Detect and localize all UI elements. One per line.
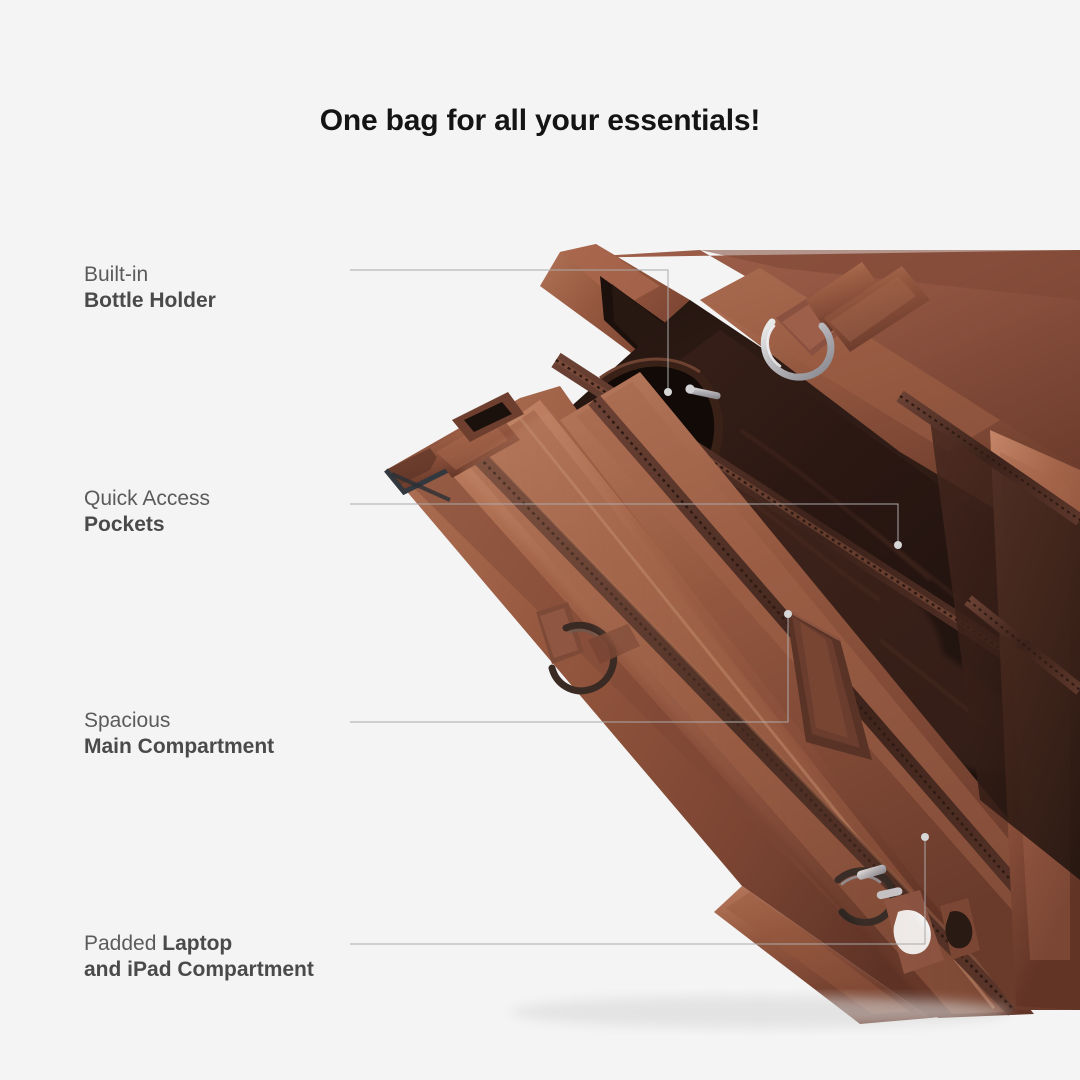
callout-line1-light: Padded bbox=[84, 932, 162, 955]
callout-line1-bold: Laptop bbox=[162, 932, 232, 955]
callout-bottle-holder: Built-in Bottle Holder bbox=[84, 262, 216, 313]
callout-line2: Pockets bbox=[84, 512, 210, 538]
callout-laptop-ipad-compartment: Padded Laptop and iPad Compartment bbox=[84, 931, 314, 982]
product-photo-briefcase bbox=[0, 0, 1080, 1080]
callout-line2: and iPad Compartment bbox=[84, 957, 314, 983]
callout-quick-access-pockets: Quick Access Pockets bbox=[84, 486, 210, 537]
callout-main-compartment: Spacious Main Compartment bbox=[84, 708, 274, 759]
callout-line1: Padded Laptop bbox=[84, 931, 314, 957]
callout-line1: Spacious bbox=[84, 708, 274, 734]
callout-line2: Bottle Holder bbox=[84, 288, 216, 314]
infographic-canvas: One bag for all your essentials! bbox=[0, 0, 1080, 1080]
callout-line2: Main Compartment bbox=[84, 734, 274, 760]
briefcase-body bbox=[386, 244, 1080, 1028]
callout-line1: Built-in bbox=[84, 262, 216, 288]
callout-line1: Quick Access bbox=[84, 486, 210, 512]
